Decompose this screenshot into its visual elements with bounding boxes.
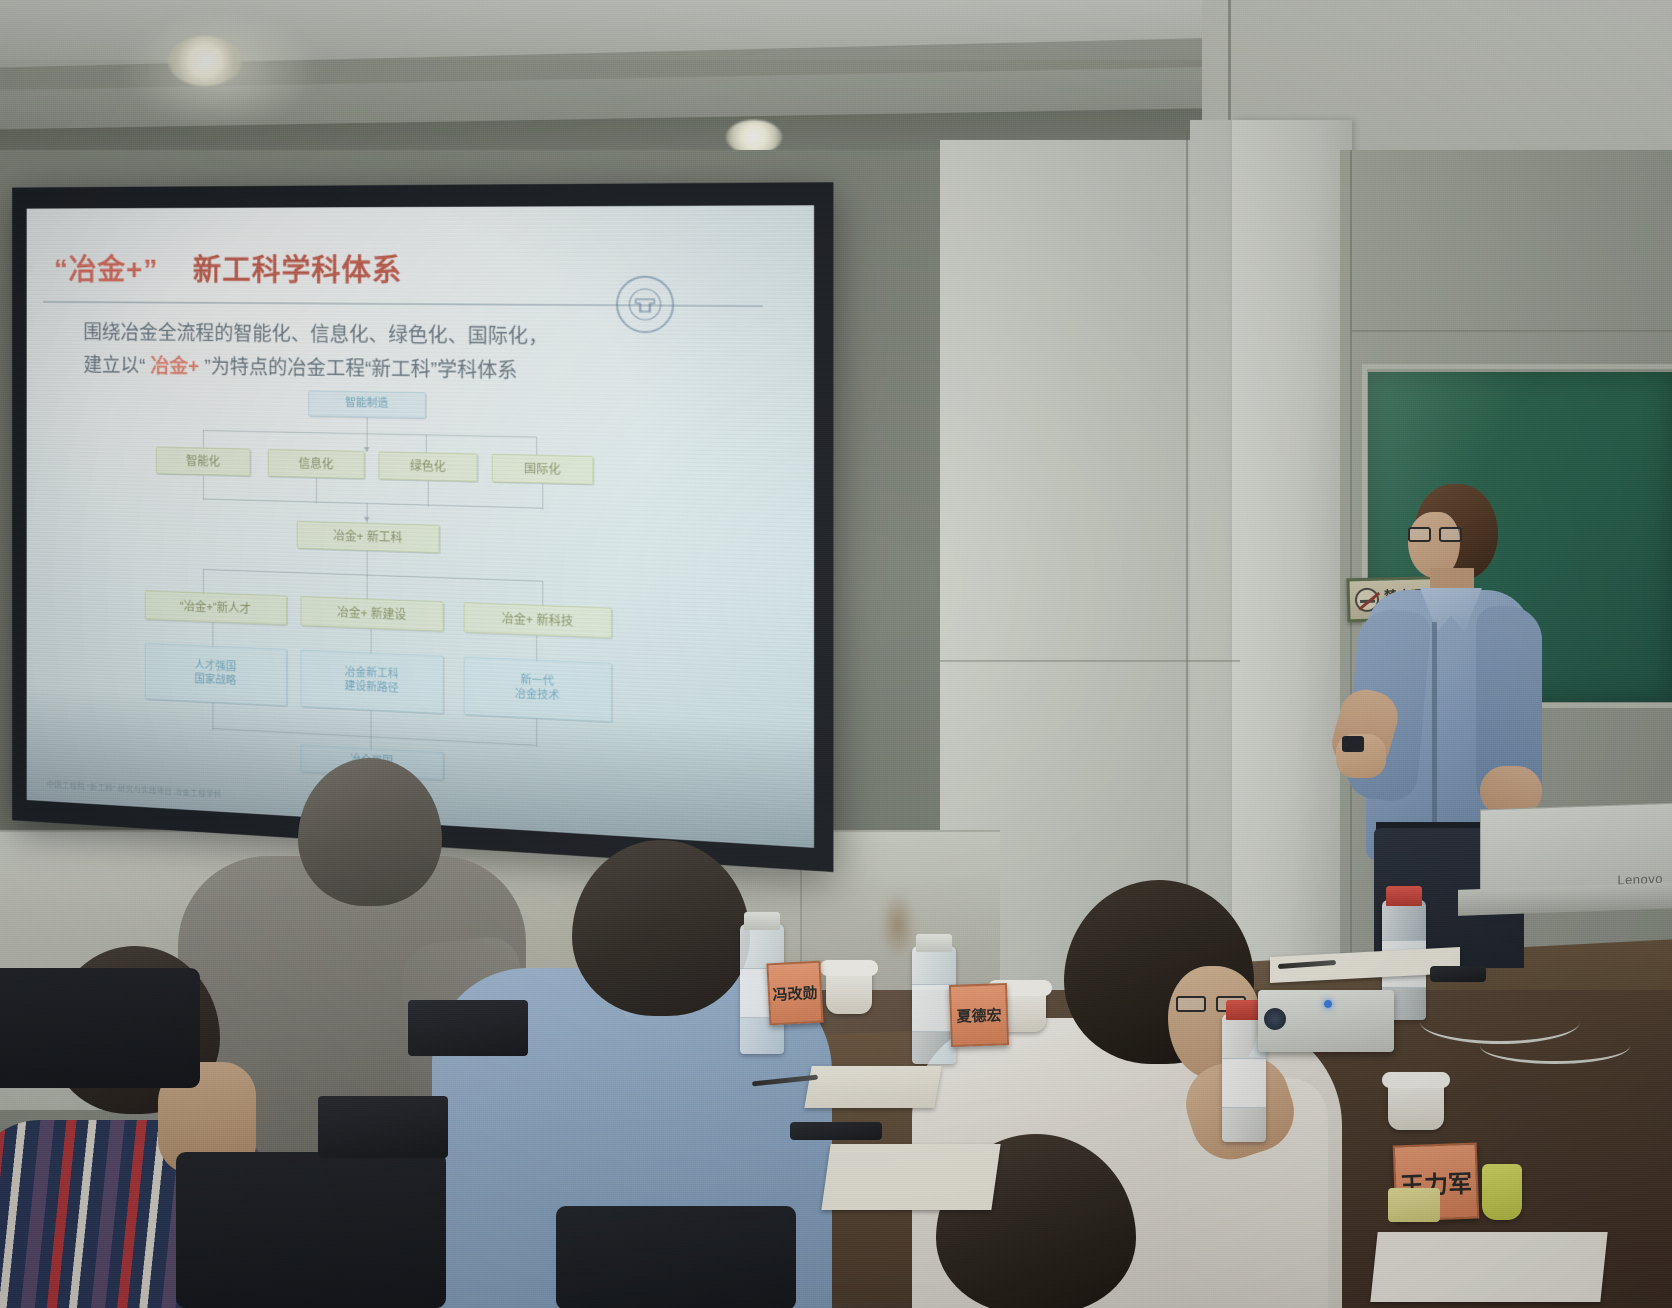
phone[interactable] (790, 1122, 882, 1140)
bottle-cap (916, 934, 952, 952)
nameplate-center: 夏德宏 (949, 983, 1009, 1047)
projection-screen: “冶金+” 新工科学科体系 围绕冶金全流程的智能化、信息化、绿色化、国际化， (27, 205, 814, 848)
bottle-cap (744, 912, 780, 930)
downlight-icon (168, 36, 242, 86)
cable (1480, 1028, 1630, 1064)
paper-sheet[interactable] (1370, 1232, 1607, 1302)
bottle-label (1222, 1058, 1266, 1108)
wall-joint-line (940, 660, 1240, 662)
downlight-icon (726, 120, 782, 154)
glasses-lens-left (1176, 996, 1206, 1012)
tablet-device[interactable] (408, 1000, 528, 1056)
chair-back (556, 1206, 796, 1308)
bottle-cap (1226, 1000, 1262, 1020)
chair-back (176, 1152, 446, 1308)
cup-lid (820, 960, 878, 976)
glasses-lens-left (1408, 527, 1431, 542)
projector-power-led (1324, 1000, 1332, 1008)
phone[interactable] (1430, 966, 1486, 982)
cup-lid (1382, 1072, 1450, 1088)
glasses-lens-right (1439, 527, 1462, 542)
nameplate-left: 冯改勋 (766, 961, 823, 1026)
presenter-glasses-icon (1408, 527, 1464, 543)
projector-lens (1264, 1008, 1286, 1030)
nameplate-left-text: 冯改勋 (772, 981, 818, 1004)
nameplate-center-text: 夏德宏 (956, 1004, 1002, 1027)
photo-scene: 禁止吸烟 NO SMOKING “冶金+” 新工科学科体系 (0, 0, 1672, 1308)
paper-sheet[interactable] (821, 1144, 1000, 1210)
projected-slide: “冶金+” 新工科学科体系 围绕冶金全流程的智能化、信息化、绿色化、国际化， (27, 205, 814, 848)
wall-stain (880, 890, 916, 960)
presenter-shirt-placket (1432, 622, 1437, 832)
projection-screen-frame: “冶金+” 新工科学科体系 围绕冶金全流程的智能化、信息化、绿色化、国际化， (12, 182, 833, 872)
small-box (1388, 1188, 1440, 1222)
small-container[interactable] (1482, 1164, 1522, 1220)
wall-joint-line (1352, 330, 1672, 332)
bottle-cap (1386, 886, 1422, 906)
presenter-remote-clicker[interactable] (1342, 736, 1364, 752)
bag (318, 1096, 448, 1158)
notebook[interactable] (804, 1066, 941, 1108)
chair-back (0, 968, 200, 1088)
